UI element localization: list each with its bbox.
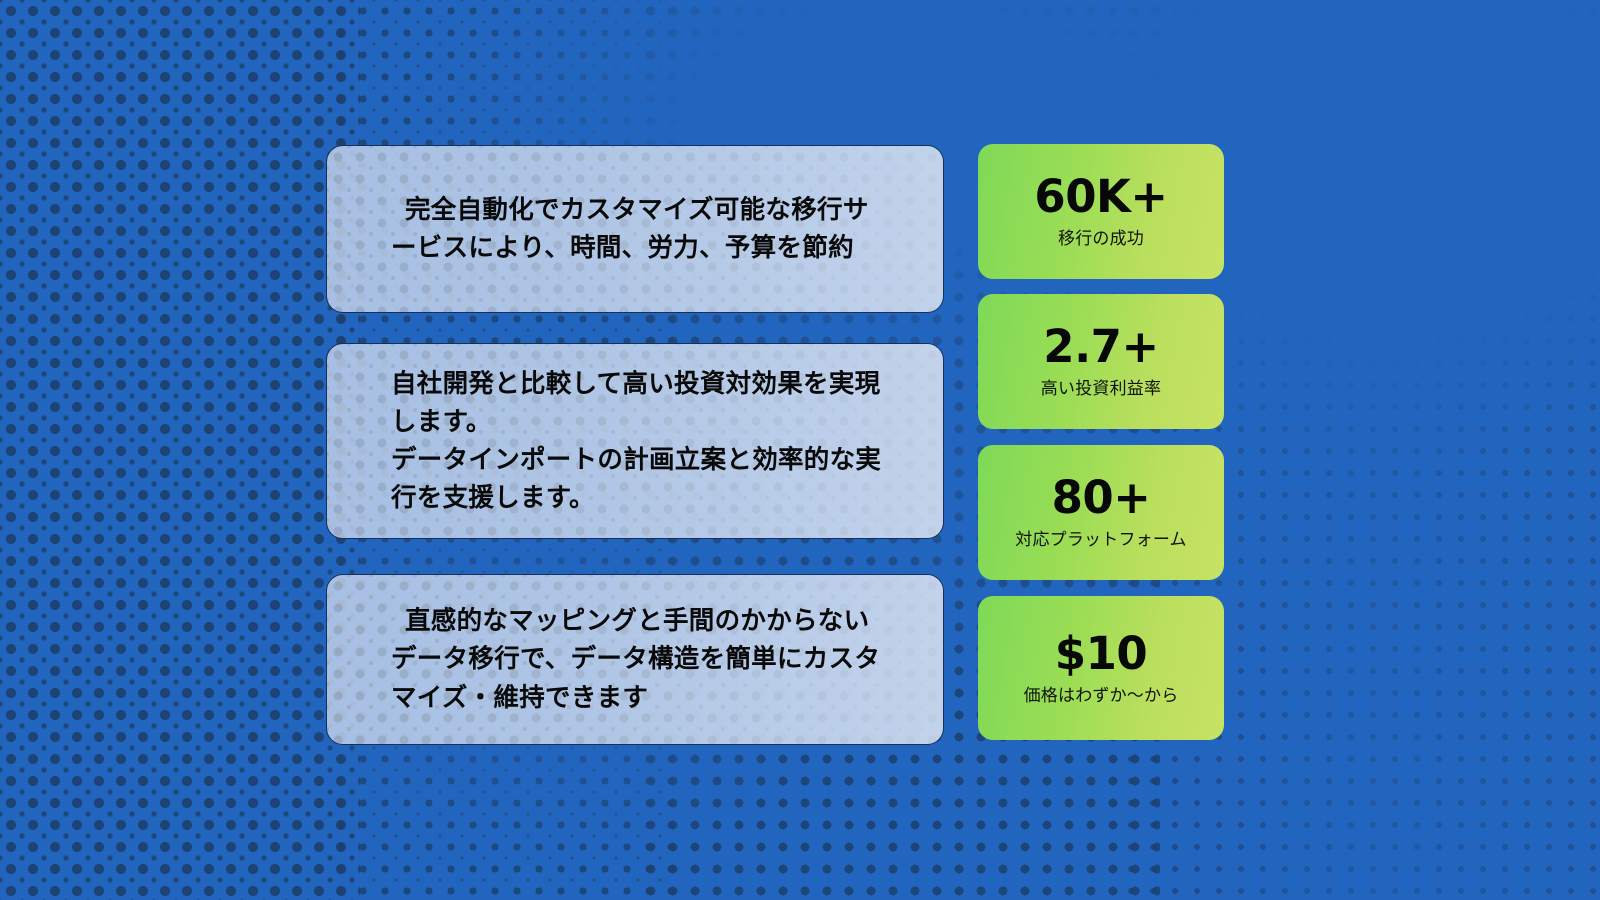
content-stage: 完全自動化でカスタマイズ可能な移行サービスにより、時間、労力、予算を節約 自社開… xyxy=(0,0,1600,900)
feature-card-mapping-text: 直感的なマッピングと手間のかからないデータ移行で、データ構造を簡単にカスタマイズ… xyxy=(327,602,943,717)
feature-line: 直感的なマッピングと手間のかからないデータ移行で、データ構造を簡単にカスタマイズ… xyxy=(391,602,891,717)
feature-line: 自社開発と比較して高い投資対効果を実現します。 xyxy=(391,365,891,442)
feature-card-roi: 自社開発と比較して高い投資対効果を実現します。 データインポートの計画立案と効率… xyxy=(326,343,944,539)
stat-value: 2.7+ xyxy=(1043,323,1158,370)
stat-card-price: $10 価格はわずか〜から xyxy=(978,596,1224,740)
stat-value: 80+ xyxy=(1052,474,1151,521)
stat-label: 高い投資利益率 xyxy=(1041,379,1161,399)
feature-line: 完全自動化でカスタマイズ可能な移行サービスにより、時間、労力、予算を節約 xyxy=(391,191,891,268)
feature-card-mapping: 直感的なマッピングと手間のかからないデータ移行で、データ構造を簡単にカスタマイズ… xyxy=(326,574,944,745)
feature-line: データインポートの計画立案と効率的な実行を支援します。 xyxy=(391,441,891,518)
stat-value: $10 xyxy=(1055,630,1147,677)
stat-label: 対応プラットフォーム xyxy=(1015,530,1187,550)
stat-card-roi: 2.7+ 高い投資利益率 xyxy=(978,294,1224,429)
feature-card-automation-text: 完全自動化でカスタマイズ可能な移行サービスにより、時間、労力、予算を節約 xyxy=(327,191,943,268)
stat-value: 60K+ xyxy=(1034,173,1167,220)
stat-card-platforms: 80+ 対応プラットフォーム xyxy=(978,445,1224,580)
stat-label: 移行の成功 xyxy=(1058,229,1144,249)
feature-card-automation: 完全自動化でカスタマイズ可能な移行サービスにより、時間、労力、予算を節約 xyxy=(326,145,944,313)
feature-card-roi-text: 自社開発と比較して高い投資対効果を実現します。 データインポートの計画立案と効率… xyxy=(327,365,943,518)
stat-card-migrations: 60K+ 移行の成功 xyxy=(978,144,1224,279)
stat-label: 価格はわずか〜から xyxy=(1024,686,1179,706)
